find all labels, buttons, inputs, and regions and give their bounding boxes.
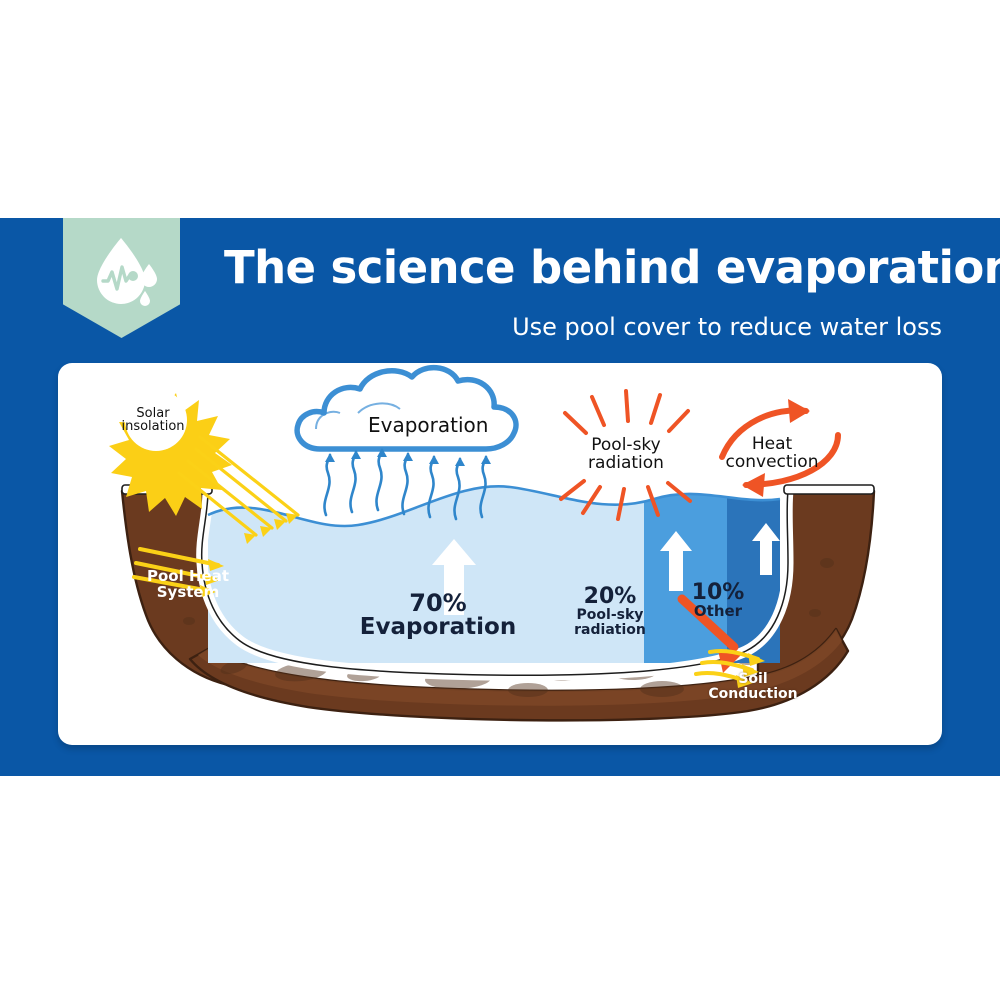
water-segment-pool-sky bbox=[644, 473, 727, 673]
stat-other-pct: 10% bbox=[670, 581, 766, 604]
stat-evaporation-name: Evaporation bbox=[328, 616, 548, 640]
stat-pool-sky-name: Pool-sky radiation bbox=[550, 608, 670, 637]
page-title: The science behind evaporation bbox=[224, 241, 1000, 294]
label-solar-insolation: Solar insolation bbox=[110, 407, 196, 434]
page-subtitle: Use pool cover to reduce water loss bbox=[480, 313, 942, 341]
stat-evaporation: 70% Evaporation bbox=[328, 591, 548, 640]
stat-other: 10% Other bbox=[670, 581, 766, 620]
infographic-root: The science behind evaporation Use pool … bbox=[0, 0, 1000, 1000]
label-soil-conduction: Soil Conduction bbox=[698, 672, 808, 701]
stat-pool-sky-pct: 20% bbox=[550, 585, 670, 608]
label-pool-sky-radiation: Pool-sky radiation bbox=[571, 436, 681, 472]
stat-evaporation-pct: 70% bbox=[328, 591, 548, 616]
stat-other-name: Other bbox=[670, 604, 766, 620]
label-pool-heat-system: Pool Heat System bbox=[142, 569, 234, 601]
label-heat-convection: Heat convection bbox=[710, 435, 834, 471]
stat-pool-sky-radiation: 20% Pool-sky radiation bbox=[550, 585, 670, 637]
diagram-card: Solar insolation Evaporation Pool-sky ra… bbox=[58, 363, 942, 745]
label-evaporation-cloud: Evaporation bbox=[368, 413, 488, 437]
